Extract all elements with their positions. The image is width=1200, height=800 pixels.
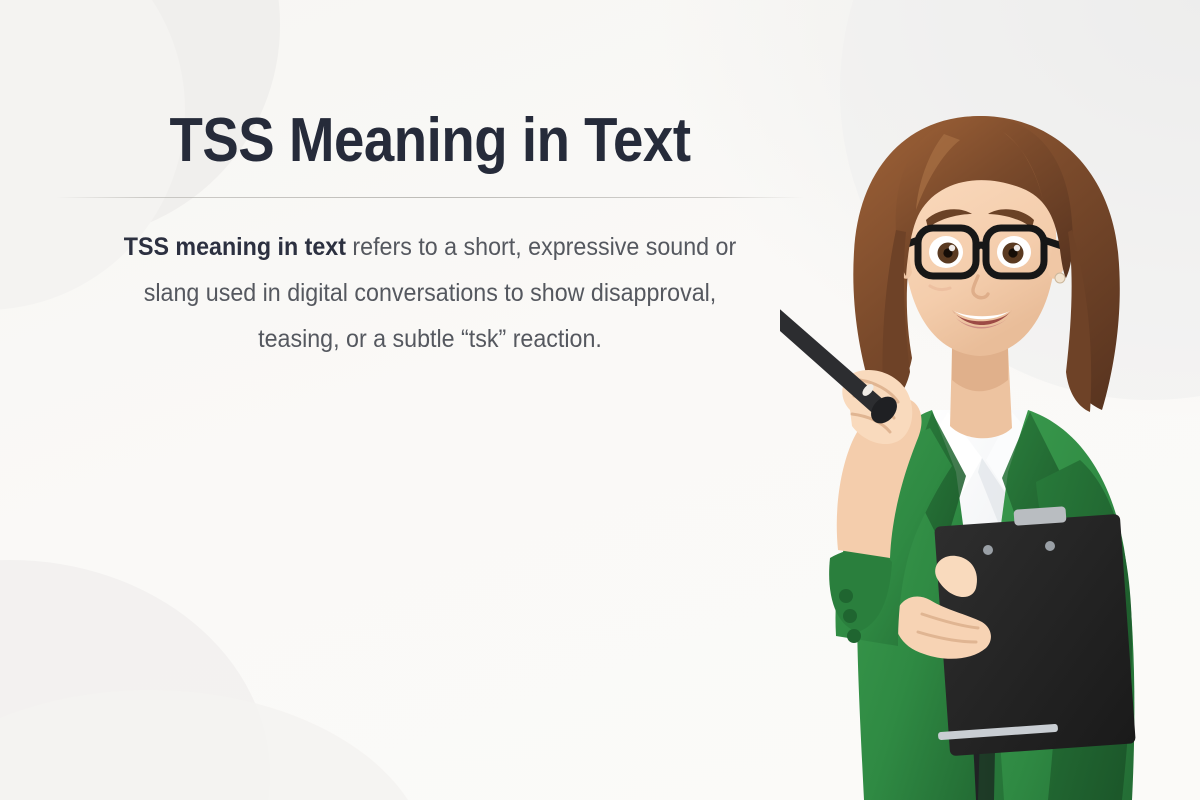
eye-right — [997, 236, 1031, 268]
clipboard-rivet-right — [1045, 541, 1055, 551]
page-canvas: TSS Meaning in Text TSS meaning in text … — [0, 0, 1200, 800]
earring — [1055, 273, 1065, 283]
description-paragraph: TSS meaning in text refers to a short, e… — [105, 224, 756, 362]
cuff-button-right-3 — [847, 629, 861, 643]
title-divider — [56, 197, 804, 198]
cuff-button-right-2 — [843, 609, 857, 623]
text-column: TSS Meaning in Text TSS meaning in text … — [0, 0, 860, 362]
cuff-button-right-1 — [839, 589, 853, 603]
clipboard-rivet-left — [983, 545, 993, 555]
background-blob-bottom-left-outer — [0, 560, 270, 800]
description-lead-bold: TSS meaning in text — [124, 233, 346, 261]
female-teacher-illustration — [780, 80, 1200, 800]
page-title: TSS Meaning in Text — [52, 108, 809, 173]
background-blob-bottom-left-inner — [0, 690, 430, 800]
eye-left — [929, 236, 963, 268]
